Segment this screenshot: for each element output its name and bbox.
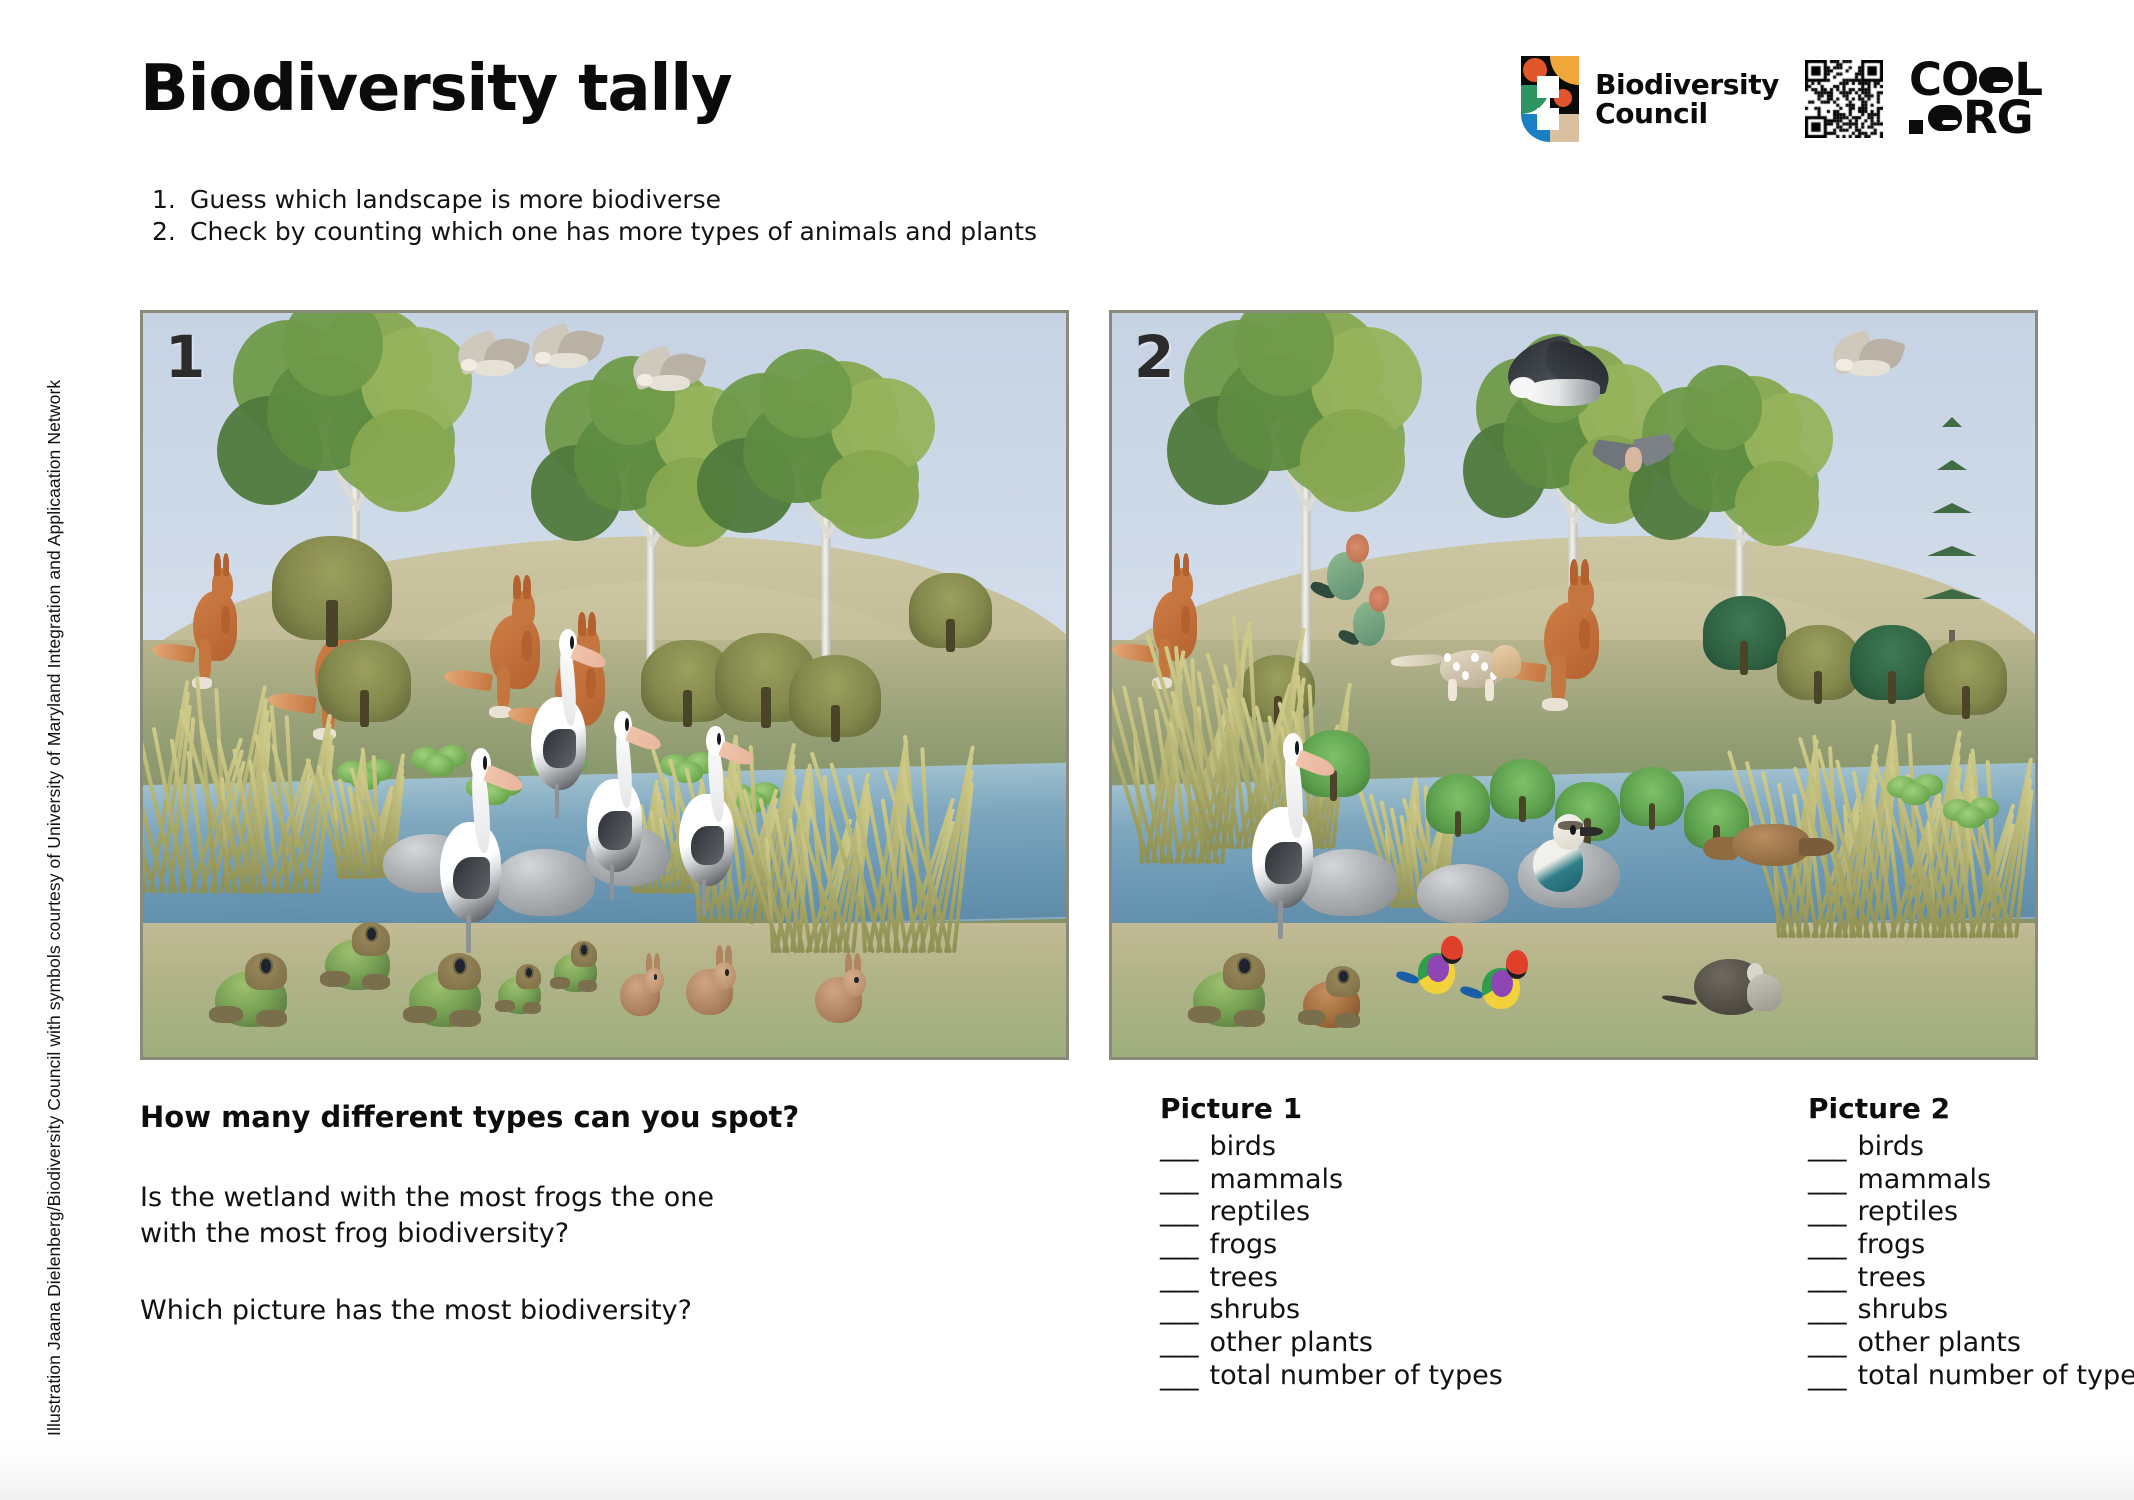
illustration-credit: Illustration Jaana Dielenberg/Biodiversi… xyxy=(44,96,70,1436)
tally-label: reptiles xyxy=(1210,1196,1311,1229)
reed-clump xyxy=(226,700,318,893)
quoll xyxy=(1426,625,1528,707)
conifer-tier xyxy=(1937,460,1967,470)
org-text: RG xyxy=(1963,99,2033,137)
shrub xyxy=(318,640,410,722)
dot-icon xyxy=(1909,120,1923,134)
tally-row[interactable]: ___birds xyxy=(1160,1131,1590,1164)
page-title: Biodiversity tally xyxy=(140,52,732,126)
picture-2-illustration[interactable]: 2 xyxy=(1109,310,2038,1060)
tally-row[interactable]: ___mammals xyxy=(1808,1164,2134,1197)
biodiversity-council-mark-icon xyxy=(1521,56,1579,142)
kookaburra xyxy=(1518,804,1601,908)
tally-picture-2: Picture 2 ___birds___mammals___reptiles_… xyxy=(1808,1092,2134,1392)
shrub xyxy=(789,655,881,737)
list-item: 2. Check by counting which one has more … xyxy=(152,216,1037,248)
tally-label: birds xyxy=(1858,1131,1924,1164)
tally-title: Picture 1 xyxy=(1160,1092,1590,1125)
frog xyxy=(494,953,549,1020)
tally-label: other plants xyxy=(1210,1327,1373,1360)
tree-canopy xyxy=(350,409,455,512)
frog xyxy=(1297,953,1371,1035)
tally-label: trees xyxy=(1858,1262,1926,1295)
question-2: Which picture has the most biodiversity? xyxy=(140,1293,1040,1329)
tally-label: frogs xyxy=(1858,1229,1926,1262)
tree-canopy xyxy=(1735,461,1819,546)
worksheet-page: Illustration Jaana Dielenberg/Biodiversi… xyxy=(0,0,2134,1500)
oval-icon xyxy=(1928,105,1962,131)
tally-label: frogs xyxy=(1210,1229,1278,1262)
answer-blank[interactable]: ___ xyxy=(1160,1294,1198,1327)
tally-row[interactable]: ___birds xyxy=(1808,1131,2134,1164)
pelican xyxy=(577,707,660,886)
conifer-tier xyxy=(1942,417,1962,427)
answer-blank[interactable]: ___ xyxy=(1160,1360,1198,1393)
rabbit xyxy=(614,953,669,1020)
pelican xyxy=(669,722,752,901)
step-number: 2. xyxy=(152,216,190,248)
tally-label: mammals xyxy=(1858,1164,1992,1197)
list-item: 1. Guess which landscape is more biodive… xyxy=(152,184,1037,216)
answer-blank[interactable]: ___ xyxy=(1160,1196,1198,1229)
step-number: 1. xyxy=(152,184,190,216)
cool-org-logo[interactable]: CO L RG xyxy=(1909,61,2042,137)
tally-label: total number of types xyxy=(1858,1360,2134,1393)
reed-clump xyxy=(863,730,955,953)
shrub xyxy=(1777,625,1860,699)
rock xyxy=(1417,864,1509,924)
platypus xyxy=(1721,804,1832,886)
tally-row[interactable]: ___frogs xyxy=(1160,1229,1590,1262)
gouldian-finch xyxy=(1407,923,1472,1012)
frog xyxy=(1186,938,1278,1035)
tally-columns: Picture 1 ___birds___mammals___reptiles_… xyxy=(1160,1092,2134,1392)
tally-title: Picture 2 xyxy=(1808,1092,2134,1125)
panel-label: 1 xyxy=(165,323,205,391)
answer-blank[interactable]: ___ xyxy=(1808,1294,1846,1327)
picture-1-illustration[interactable]: 1 xyxy=(140,310,1069,1060)
tally-label: trees xyxy=(1210,1262,1278,1295)
brand-line-1: Biodiversity xyxy=(1595,70,1779,99)
answer-blank[interactable]: ___ xyxy=(1808,1229,1846,1262)
shrub xyxy=(272,536,392,640)
conifer-tier xyxy=(1932,503,1972,513)
bird-flying xyxy=(531,328,605,388)
tree-canopy xyxy=(1300,409,1405,512)
tally-row[interactable]: ___trees xyxy=(1160,1262,1590,1295)
bird-flying xyxy=(632,350,706,410)
tally-label: birds xyxy=(1210,1131,1276,1164)
parrot xyxy=(1343,581,1398,663)
panel-label: 2 xyxy=(1134,323,1174,391)
pelican xyxy=(1241,730,1333,923)
shrub xyxy=(1850,625,1933,699)
frog xyxy=(549,931,604,998)
bird-flying xyxy=(1832,335,1906,395)
biodiversity-council-wordmark: Biodiversity Council xyxy=(1595,70,1779,129)
answer-blank[interactable]: ___ xyxy=(1160,1262,1198,1295)
bat xyxy=(1592,417,1675,491)
step-text: Check by counting which one has more typ… xyxy=(190,216,1037,248)
answer-blank[interactable]: ___ xyxy=(1160,1164,1198,1197)
answer-blank[interactable]: ___ xyxy=(1808,1196,1846,1229)
tally-row[interactable]: ___total number of types xyxy=(1808,1360,2134,1393)
questions-heading: How many different types can you spot? xyxy=(140,1100,1040,1134)
instruction-list: 1. Guess which landscape is more biodive… xyxy=(152,184,1037,248)
aquatic-plant xyxy=(1620,767,1685,827)
native-mouse xyxy=(1684,938,1786,1027)
picture-2-scene xyxy=(1112,313,2035,1057)
bird-flying xyxy=(457,335,531,395)
answer-blank[interactable]: ___ xyxy=(1808,1262,1846,1295)
brand-line-2: Council xyxy=(1595,99,1779,128)
aquatic-plant xyxy=(1887,774,1947,800)
wallaby xyxy=(1527,573,1619,714)
aquatic-plant xyxy=(1426,774,1491,834)
brand-bar: Biodiversity Council CO L RG xyxy=(1521,56,2042,142)
gouldian-finch xyxy=(1472,938,1537,1027)
question-1-line-1: Is the wetland with the most frogs the o… xyxy=(140,1180,1040,1216)
page-bottom-edge xyxy=(0,1440,2134,1500)
tally-row[interactable]: ___shrubs xyxy=(1160,1294,1590,1327)
tally-row[interactable]: ___trees xyxy=(1808,1262,2134,1295)
tally-picture-1: Picture 1 ___birds___mammals___reptiles_… xyxy=(1160,1092,1590,1392)
oval-icon xyxy=(1979,67,2013,93)
tally-row[interactable]: ___total number of types xyxy=(1160,1360,1590,1393)
question-1-line-2: with the most frog biodiversity? xyxy=(140,1216,1040,1252)
answer-blank[interactable]: ___ xyxy=(1808,1164,1846,1197)
tally-row[interactable]: ___reptiles xyxy=(1160,1196,1590,1229)
rabbit xyxy=(808,953,873,1027)
tree-canopy xyxy=(821,450,919,539)
tally-row[interactable]: ___other plants xyxy=(1160,1327,1590,1360)
tally-row[interactable]: ___reptiles xyxy=(1808,1196,2134,1229)
answer-blank[interactable]: ___ xyxy=(1160,1327,1198,1360)
biodiversity-council-logo[interactable]: Biodiversity Council xyxy=(1521,56,1779,142)
conifer-tier xyxy=(1922,589,1982,599)
tally-label: shrubs xyxy=(1210,1294,1301,1327)
qr-code-icon[interactable] xyxy=(1805,60,1883,138)
tally-label: total number of types xyxy=(1210,1360,1503,1393)
shrub xyxy=(1924,640,2007,714)
illustration-panels: 1 2 xyxy=(140,310,2038,1060)
tally-row[interactable]: ___shrubs xyxy=(1808,1294,2134,1327)
tally-label: reptiles xyxy=(1858,1196,1959,1229)
tree-canopy xyxy=(759,349,852,438)
answer-blank[interactable]: ___ xyxy=(1160,1229,1198,1262)
answer-blank[interactable]: ___ xyxy=(1808,1360,1846,1393)
tally-label: shrubs xyxy=(1858,1294,1949,1327)
shrub xyxy=(1703,596,1786,670)
tree-conifer xyxy=(1906,417,1998,670)
tally-row[interactable]: ___other plants xyxy=(1808,1327,2134,1360)
tally-row[interactable]: ___mammals xyxy=(1160,1164,1590,1197)
frog xyxy=(208,938,300,1035)
picture-1-scene xyxy=(143,313,1066,1057)
shrub xyxy=(909,573,992,647)
tree-canopy xyxy=(1682,365,1762,450)
step-text: Guess which landscape is more biodiverse xyxy=(190,184,721,216)
frog xyxy=(318,908,401,997)
aquatic-plant xyxy=(1943,797,2003,823)
answer-blank[interactable]: ___ xyxy=(1808,1327,1846,1360)
frog xyxy=(401,938,493,1035)
answer-blank[interactable]: ___ xyxy=(1160,1131,1198,1164)
tally-row[interactable]: ___frogs xyxy=(1808,1229,2134,1262)
conifer-tier xyxy=(1927,546,1977,556)
rabbit xyxy=(678,945,743,1019)
cool-org-line-2: RG xyxy=(1909,99,2033,137)
pelican xyxy=(429,745,521,938)
tally-label: other plants xyxy=(1858,1327,2021,1360)
tally-label: mammals xyxy=(1210,1164,1344,1197)
answer-blank[interactable]: ___ xyxy=(1808,1131,1846,1164)
questions-block: How many different types can you spot? I… xyxy=(140,1100,1040,1329)
